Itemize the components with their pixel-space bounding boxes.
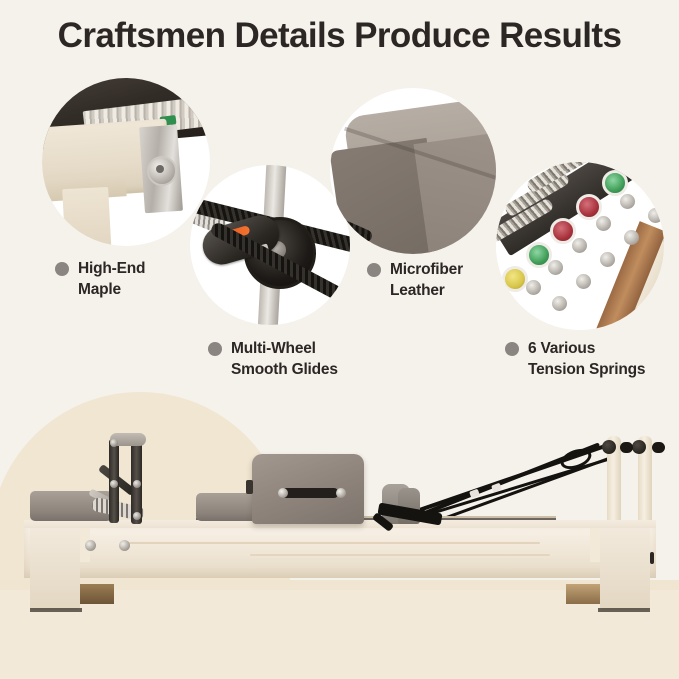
frame-bolt — [85, 540, 96, 551]
frame-bolt — [119, 540, 130, 551]
infographic-canvas: Craftsmen Details Produce Results — [0, 0, 679, 679]
frame-side-marker — [650, 552, 654, 564]
feature-label-text: Microfiber Leather — [390, 259, 463, 302]
riser-knob-icon — [652, 442, 665, 453]
riser-knob-icon — [620, 442, 633, 453]
head-box-handle — [282, 488, 338, 498]
feature-label-text: 6 Various Tension Springs — [528, 338, 645, 381]
spring-cap-green — [602, 170, 628, 196]
feature-label-text: Multi-Wheel Smooth Glides — [231, 338, 338, 381]
feature-label-multi-wheel: Multi-Wheel Smooth Glides — [208, 338, 338, 381]
head-box-stud — [278, 488, 288, 498]
footbar-bolt — [133, 512, 141, 520]
reformer-rope — [429, 455, 614, 525]
maple-leg — [62, 187, 112, 246]
frame-beam — [24, 528, 656, 578]
bullet-dot-icon — [208, 342, 222, 356]
riser-pulley-icon — [602, 440, 616, 454]
feature-photo-high-end-maple — [42, 78, 210, 246]
head-box-stud — [336, 488, 346, 498]
spring-cap-yellow — [502, 266, 528, 292]
riser-pulley-icon — [632, 440, 646, 454]
spring-peg — [620, 194, 635, 209]
spring-peg — [600, 252, 615, 267]
leg-shadow-left — [30, 608, 82, 612]
frame-leg-right — [600, 528, 650, 610]
spring-peg — [644, 172, 659, 187]
feature-photo-microfiber-leather — [330, 88, 496, 254]
frame-foot-left — [80, 584, 114, 604]
footbar-bolt — [133, 480, 141, 488]
page-title: Craftsmen Details Produce Results — [0, 16, 679, 56]
product-hero-image — [0, 392, 679, 679]
spring-peg — [526, 280, 541, 295]
frame-leg-left — [30, 528, 80, 610]
spring-peg — [648, 208, 663, 223]
spring-cap-red — [550, 218, 576, 244]
leather-photo-inner — [330, 88, 496, 254]
frame-foot-right — [566, 584, 600, 604]
feature-label-high-end-maple: High-End Maple — [55, 258, 145, 301]
feature-label-tension-springs: 6 Various Tension Springs — [505, 338, 645, 381]
springs-photo-inner — [496, 162, 664, 330]
spring-peg — [572, 238, 587, 253]
bullet-dot-icon — [55, 262, 69, 276]
feature-label-microfiber-leather: Microfiber Leather — [367, 259, 463, 302]
maple-knob-icon — [147, 156, 177, 186]
feature-photo-tension-springs — [496, 162, 664, 330]
feature-label-text: High-End Maple — [78, 258, 145, 301]
maple-photo-inner — [42, 78, 210, 246]
bullet-dot-icon — [505, 342, 519, 356]
spring-peg — [596, 216, 611, 231]
spring-peg — [548, 260, 563, 275]
spring-cap-red — [576, 194, 602, 220]
spring-peg — [576, 274, 591, 289]
spring-peg — [624, 230, 639, 245]
spring-peg — [552, 296, 567, 311]
head-box-clip — [246, 480, 253, 494]
wood-grain — [120, 542, 540, 544]
pulley-photo-inner — [190, 165, 350, 325]
leg-shadow-right — [598, 608, 650, 612]
feature-photo-multi-wheel — [190, 165, 350, 325]
wood-grain — [250, 554, 550, 556]
footbar-bolt — [110, 439, 118, 447]
footbar-bolt — [110, 480, 118, 488]
bullet-dot-icon — [367, 263, 381, 277]
